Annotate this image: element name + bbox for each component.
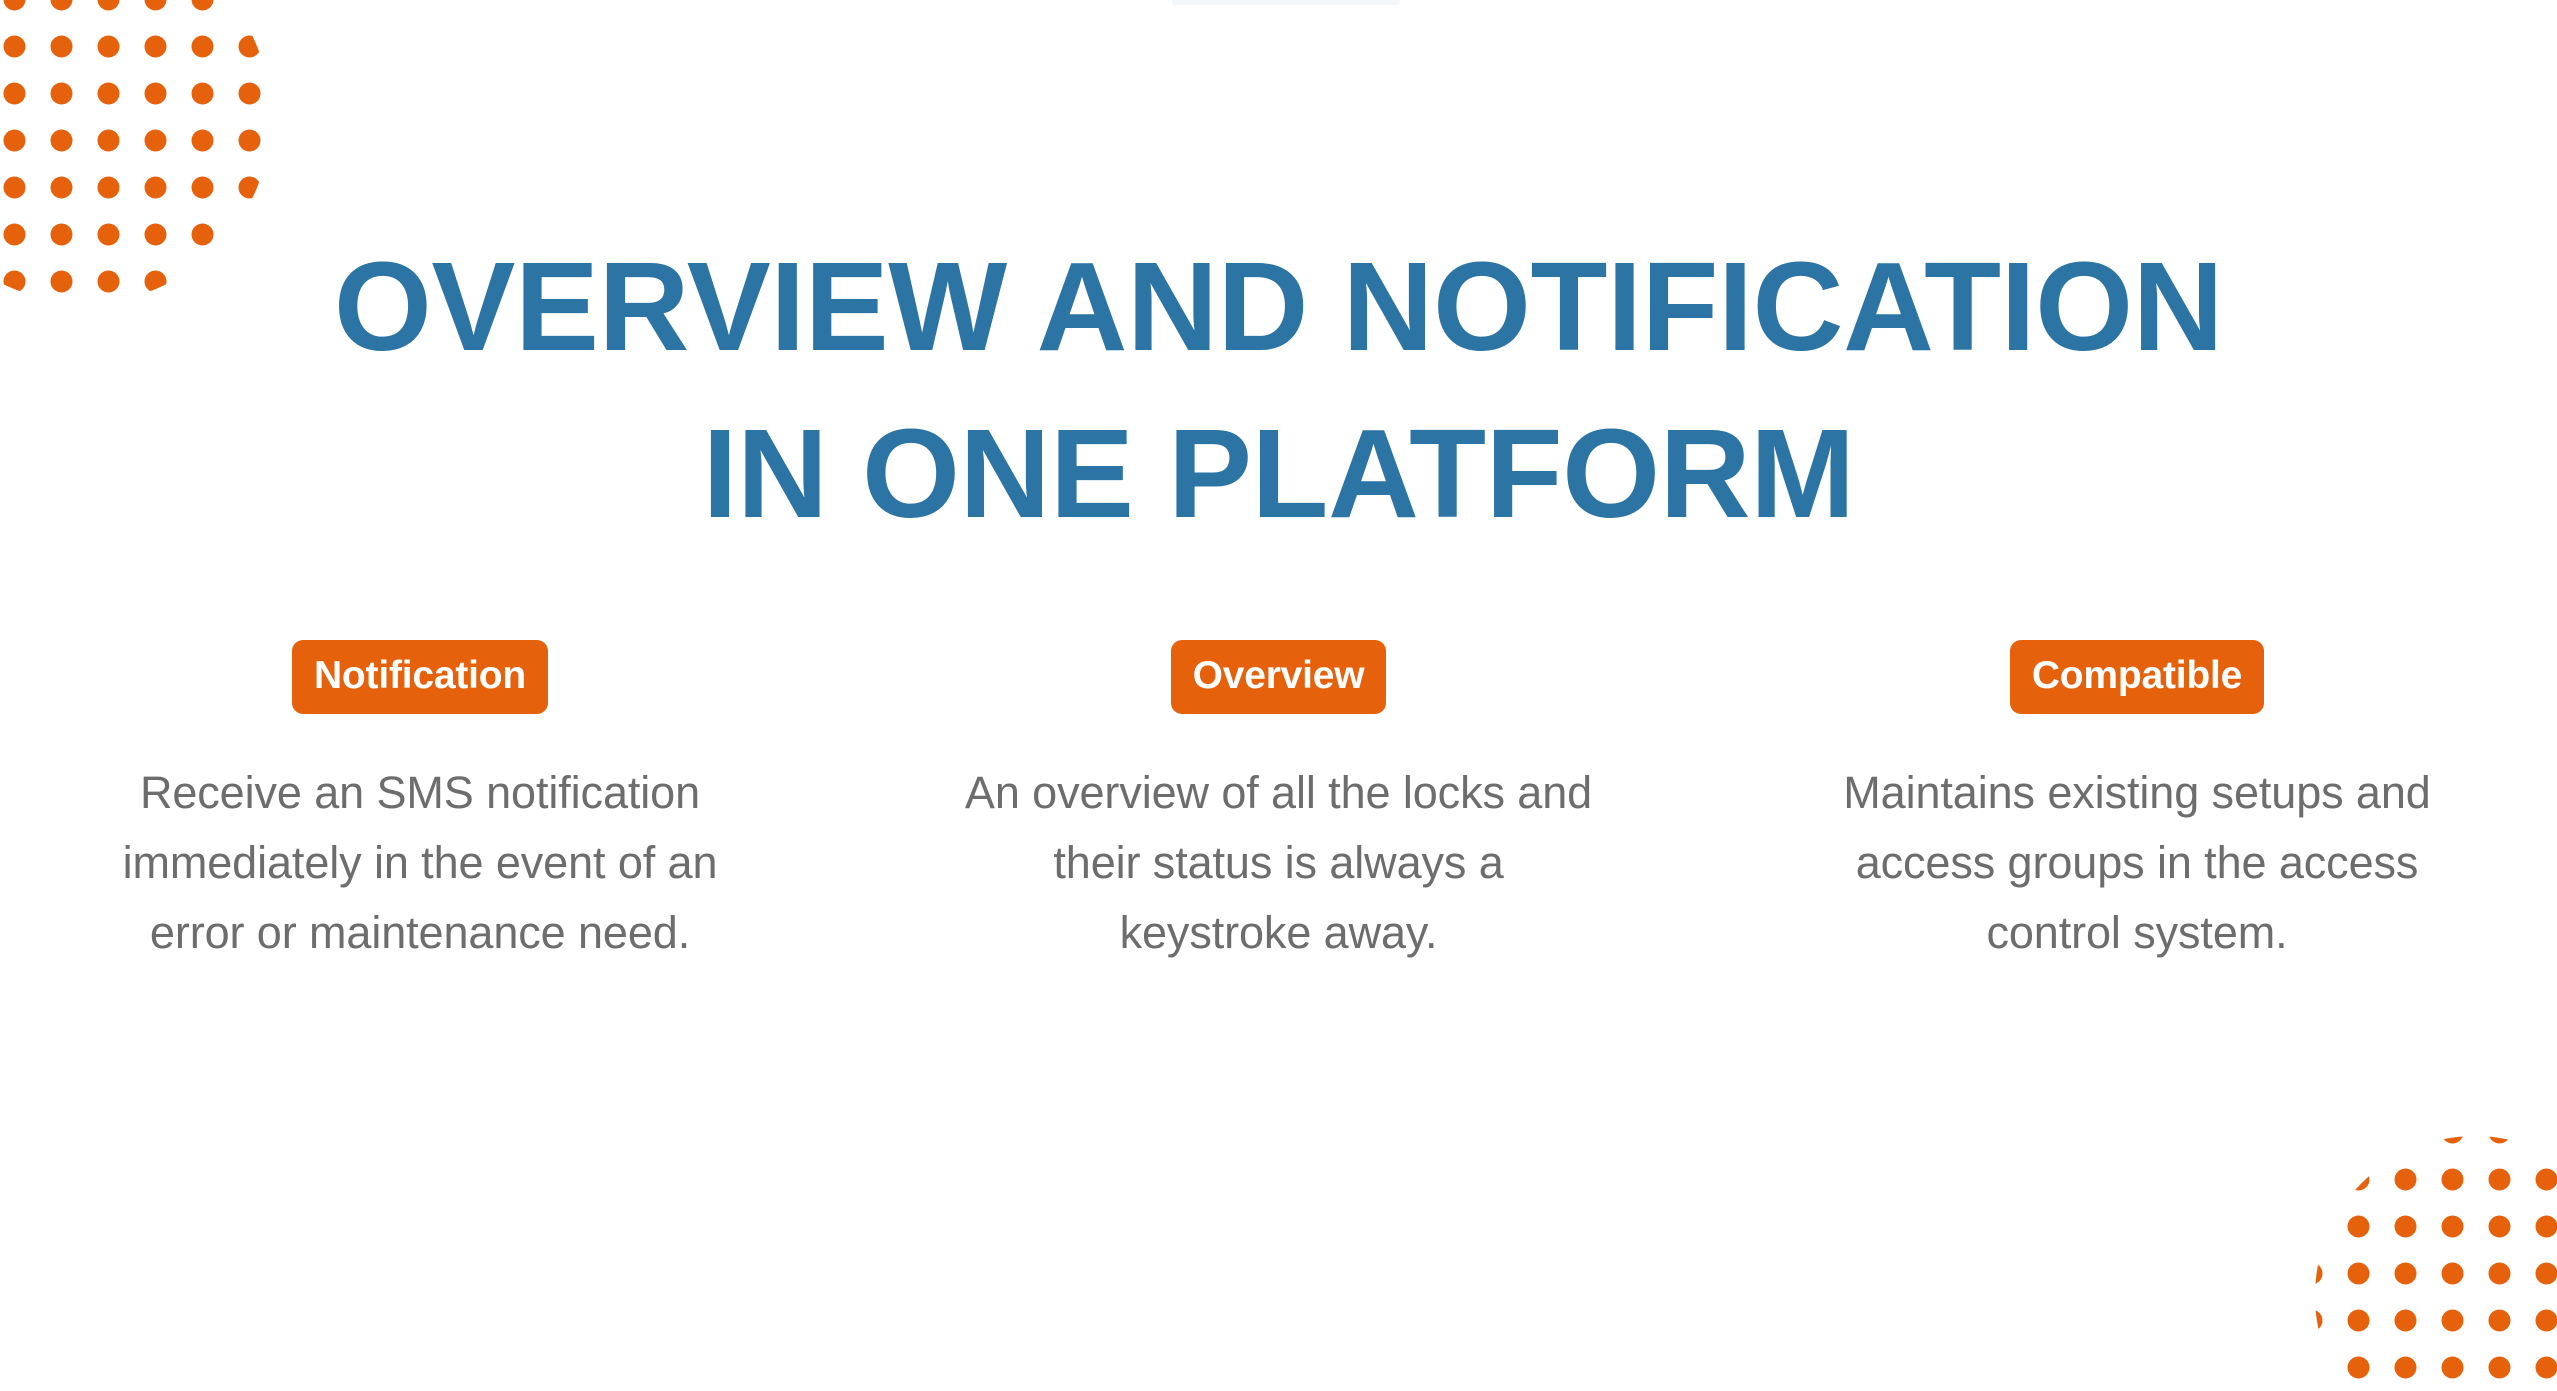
feature-description-overview: An overview of all the locks and their s… (959, 758, 1599, 967)
page-title-line-2: IN ONE PLATFORM (0, 391, 2557, 557)
status-badge-notification: Notification (292, 640, 548, 714)
feature-column-overview: Overview An overview of all the locks an… (959, 640, 1599, 1012)
feature-column-compatible: Compatible Maintains existing setups and… (1817, 640, 2457, 1012)
status-badge-compatible: Compatible (2010, 640, 2264, 714)
feature-description-notification: Receive an SMS notification immediately … (100, 758, 740, 967)
slide-canvas: OVERVIEW AND NOTIFICATION IN ONE PLATFOR… (0, 0, 2557, 1391)
page-title-line-1: OVERVIEW AND NOTIFICATION (0, 224, 2557, 390)
feature-column-notification: Notification Receive an SMS notification… (100, 640, 740, 1012)
status-badge-overview: Overview (1171, 640, 1387, 714)
top-accent-bar (1172, 0, 1400, 5)
feature-description-compatible: Maintains existing setups and access gro… (1817, 758, 2457, 967)
dot-grid-circle-icon-bottom-right (2285, 1106, 2557, 1391)
feature-columns: Notification Receive an SMS notification… (100, 640, 2457, 1012)
page-title: OVERVIEW AND NOTIFICATION IN ONE PLATFOR… (0, 224, 2557, 557)
